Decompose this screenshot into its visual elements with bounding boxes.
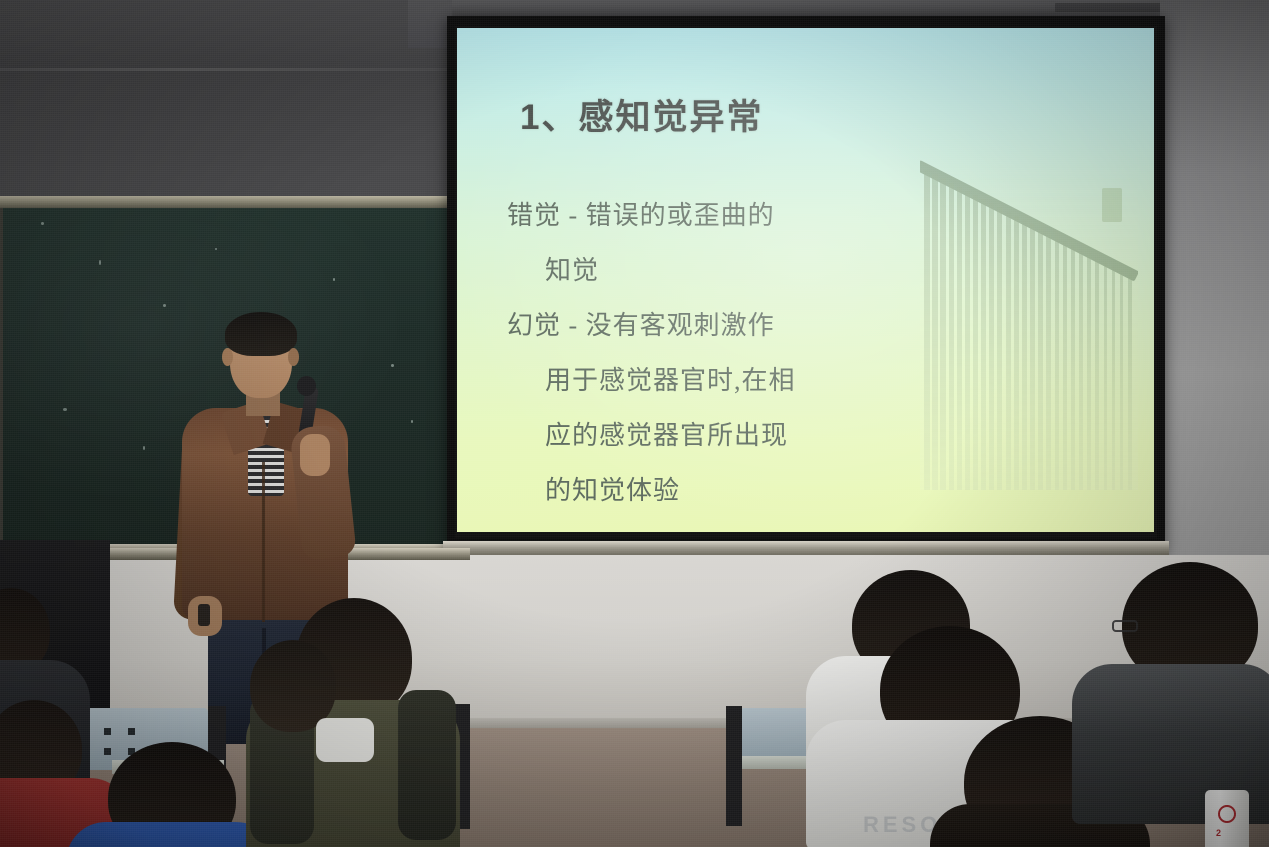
presenter-hair	[225, 312, 297, 356]
slide-line-5: 应的感觉器官所出现	[507, 408, 887, 463]
chair-hole	[128, 728, 135, 735]
thermos-label: 2	[1216, 828, 1221, 838]
presenter-ear-left	[222, 348, 233, 366]
presenter-ear-right	[288, 348, 299, 366]
slide-title: 1、感知觉异常	[520, 89, 763, 140]
slide-line-2: 知觉	[507, 243, 887, 298]
backpack-strap	[398, 690, 456, 840]
beam-left-block	[408, 0, 452, 48]
slide-line-4: 用于感觉器官时,在相	[507, 353, 887, 408]
thermos-logo-icon	[1218, 805, 1236, 823]
slide-line-3: 幻觉 - 没有客观刺激作	[507, 298, 887, 353]
presenter-jacket-zipper	[262, 462, 265, 622]
chair-hole	[104, 728, 111, 735]
slide-body-text: 错觉 - 错误的或歪曲的 知觉 幻觉 - 没有客观刺激作 用于感觉器官时,在相 …	[507, 188, 887, 518]
presenter-right-hand	[300, 434, 330, 476]
student-blue-jacket	[66, 822, 276, 847]
ceiling-beam-label	[1055, 3, 1165, 12]
student-white-collar	[316, 718, 374, 762]
hoodie-print-text: RESO	[863, 812, 941, 838]
right-wall	[1160, 0, 1269, 620]
slide-line-1: 错觉 - 错误的或歪曲的	[507, 188, 887, 243]
presenter-clicker	[198, 604, 210, 626]
microphone-capsule	[297, 376, 316, 396]
glasses-icon	[1112, 620, 1138, 632]
presentation-slide: 1、感知觉异常 错觉 - 错误的或歪曲的 知觉 幻觉 - 没有客观刺激作 用于感…	[457, 28, 1154, 532]
projection-screen-frame: 1、感知觉异常 错觉 - 错误的或歪曲的 知觉 幻觉 - 没有客观刺激作 用于感…	[447, 16, 1165, 554]
classroom-lecture-photo: 1、感知觉异常 错觉 - 错误的或歪曲的 知觉 幻觉 - 没有客观刺激作 用于感…	[0, 0, 1269, 847]
desk-leg	[726, 706, 742, 826]
slide-faint-mark	[1102, 188, 1122, 222]
wall-seam	[0, 68, 460, 71]
chair-hole	[104, 748, 111, 755]
slide-line-6: 的知觉体验	[507, 463, 887, 518]
